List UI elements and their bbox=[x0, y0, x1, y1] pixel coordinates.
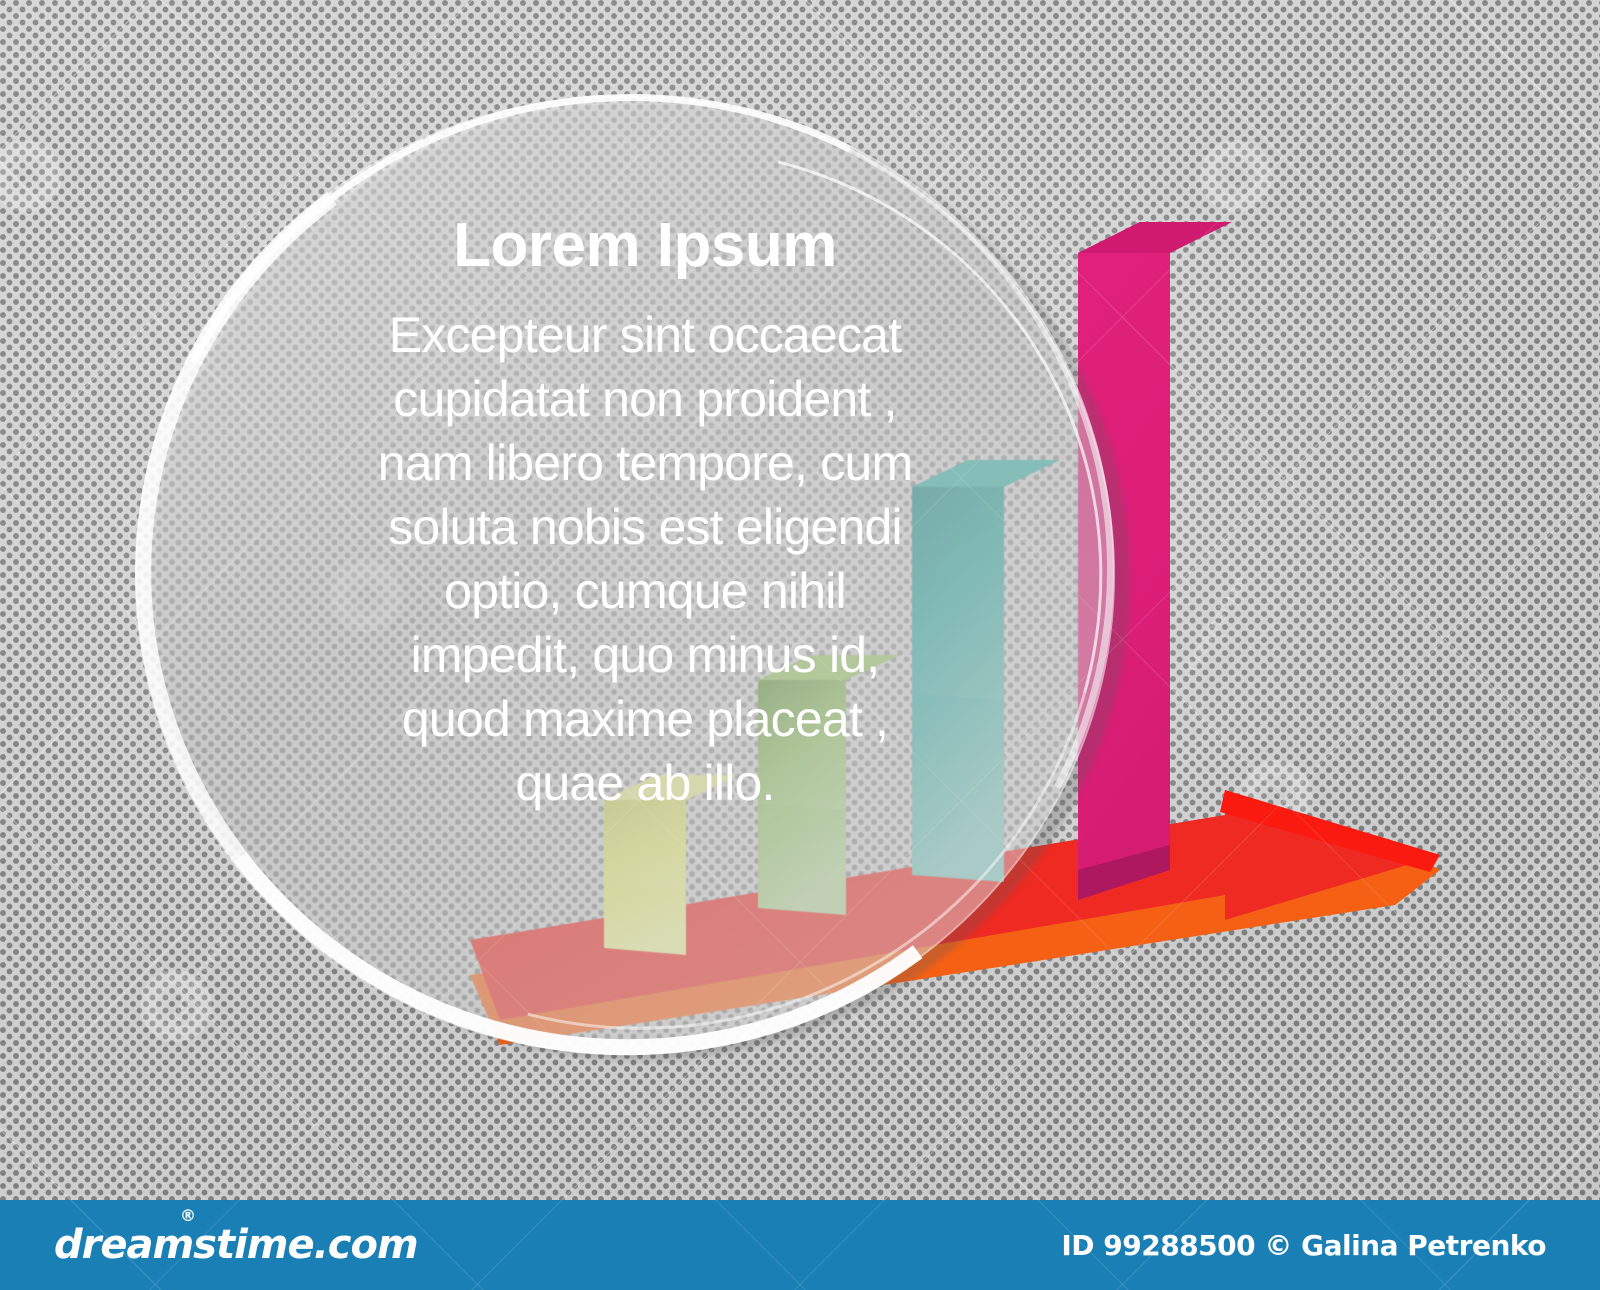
body-line: nam libero tempore, cum bbox=[250, 431, 1040, 495]
text-panel: Lorem Ipsum Excepteur sint occaecat cupi… bbox=[250, 215, 1040, 815]
body-line: impedit, quo minus id, bbox=[250, 623, 1040, 687]
body-line: cupidatat non proident , bbox=[250, 367, 1040, 431]
registered-mark-icon: ® bbox=[180, 1206, 195, 1225]
page-title: Lorem Ipsum bbox=[250, 215, 1040, 277]
footer-bar: dreamstime.com ® ID 99288500 © Galina Pe… bbox=[0, 1200, 1600, 1290]
image-credit: ID 99288500 © Galina Petrenko bbox=[1061, 1229, 1546, 1262]
bar-magenta-top bbox=[1078, 222, 1232, 253]
poster-canvas: dreamstime dreamstime dreamstime dreamst… bbox=[0, 0, 1600, 1290]
body-line: soluta nobis est eligendi bbox=[250, 495, 1040, 559]
body-line: optio, cumque nihil bbox=[250, 559, 1040, 623]
dreamstime-logo-text: dreamstime.com bbox=[54, 1222, 418, 1268]
body-line: Excepteur sint occaecat bbox=[250, 303, 1040, 367]
body-line: quod maxime placeat , bbox=[250, 687, 1040, 751]
body-line: quae ab illo. bbox=[250, 751, 1040, 815]
dreamstime-logo[interactable]: dreamstime.com ® bbox=[54, 1222, 418, 1268]
